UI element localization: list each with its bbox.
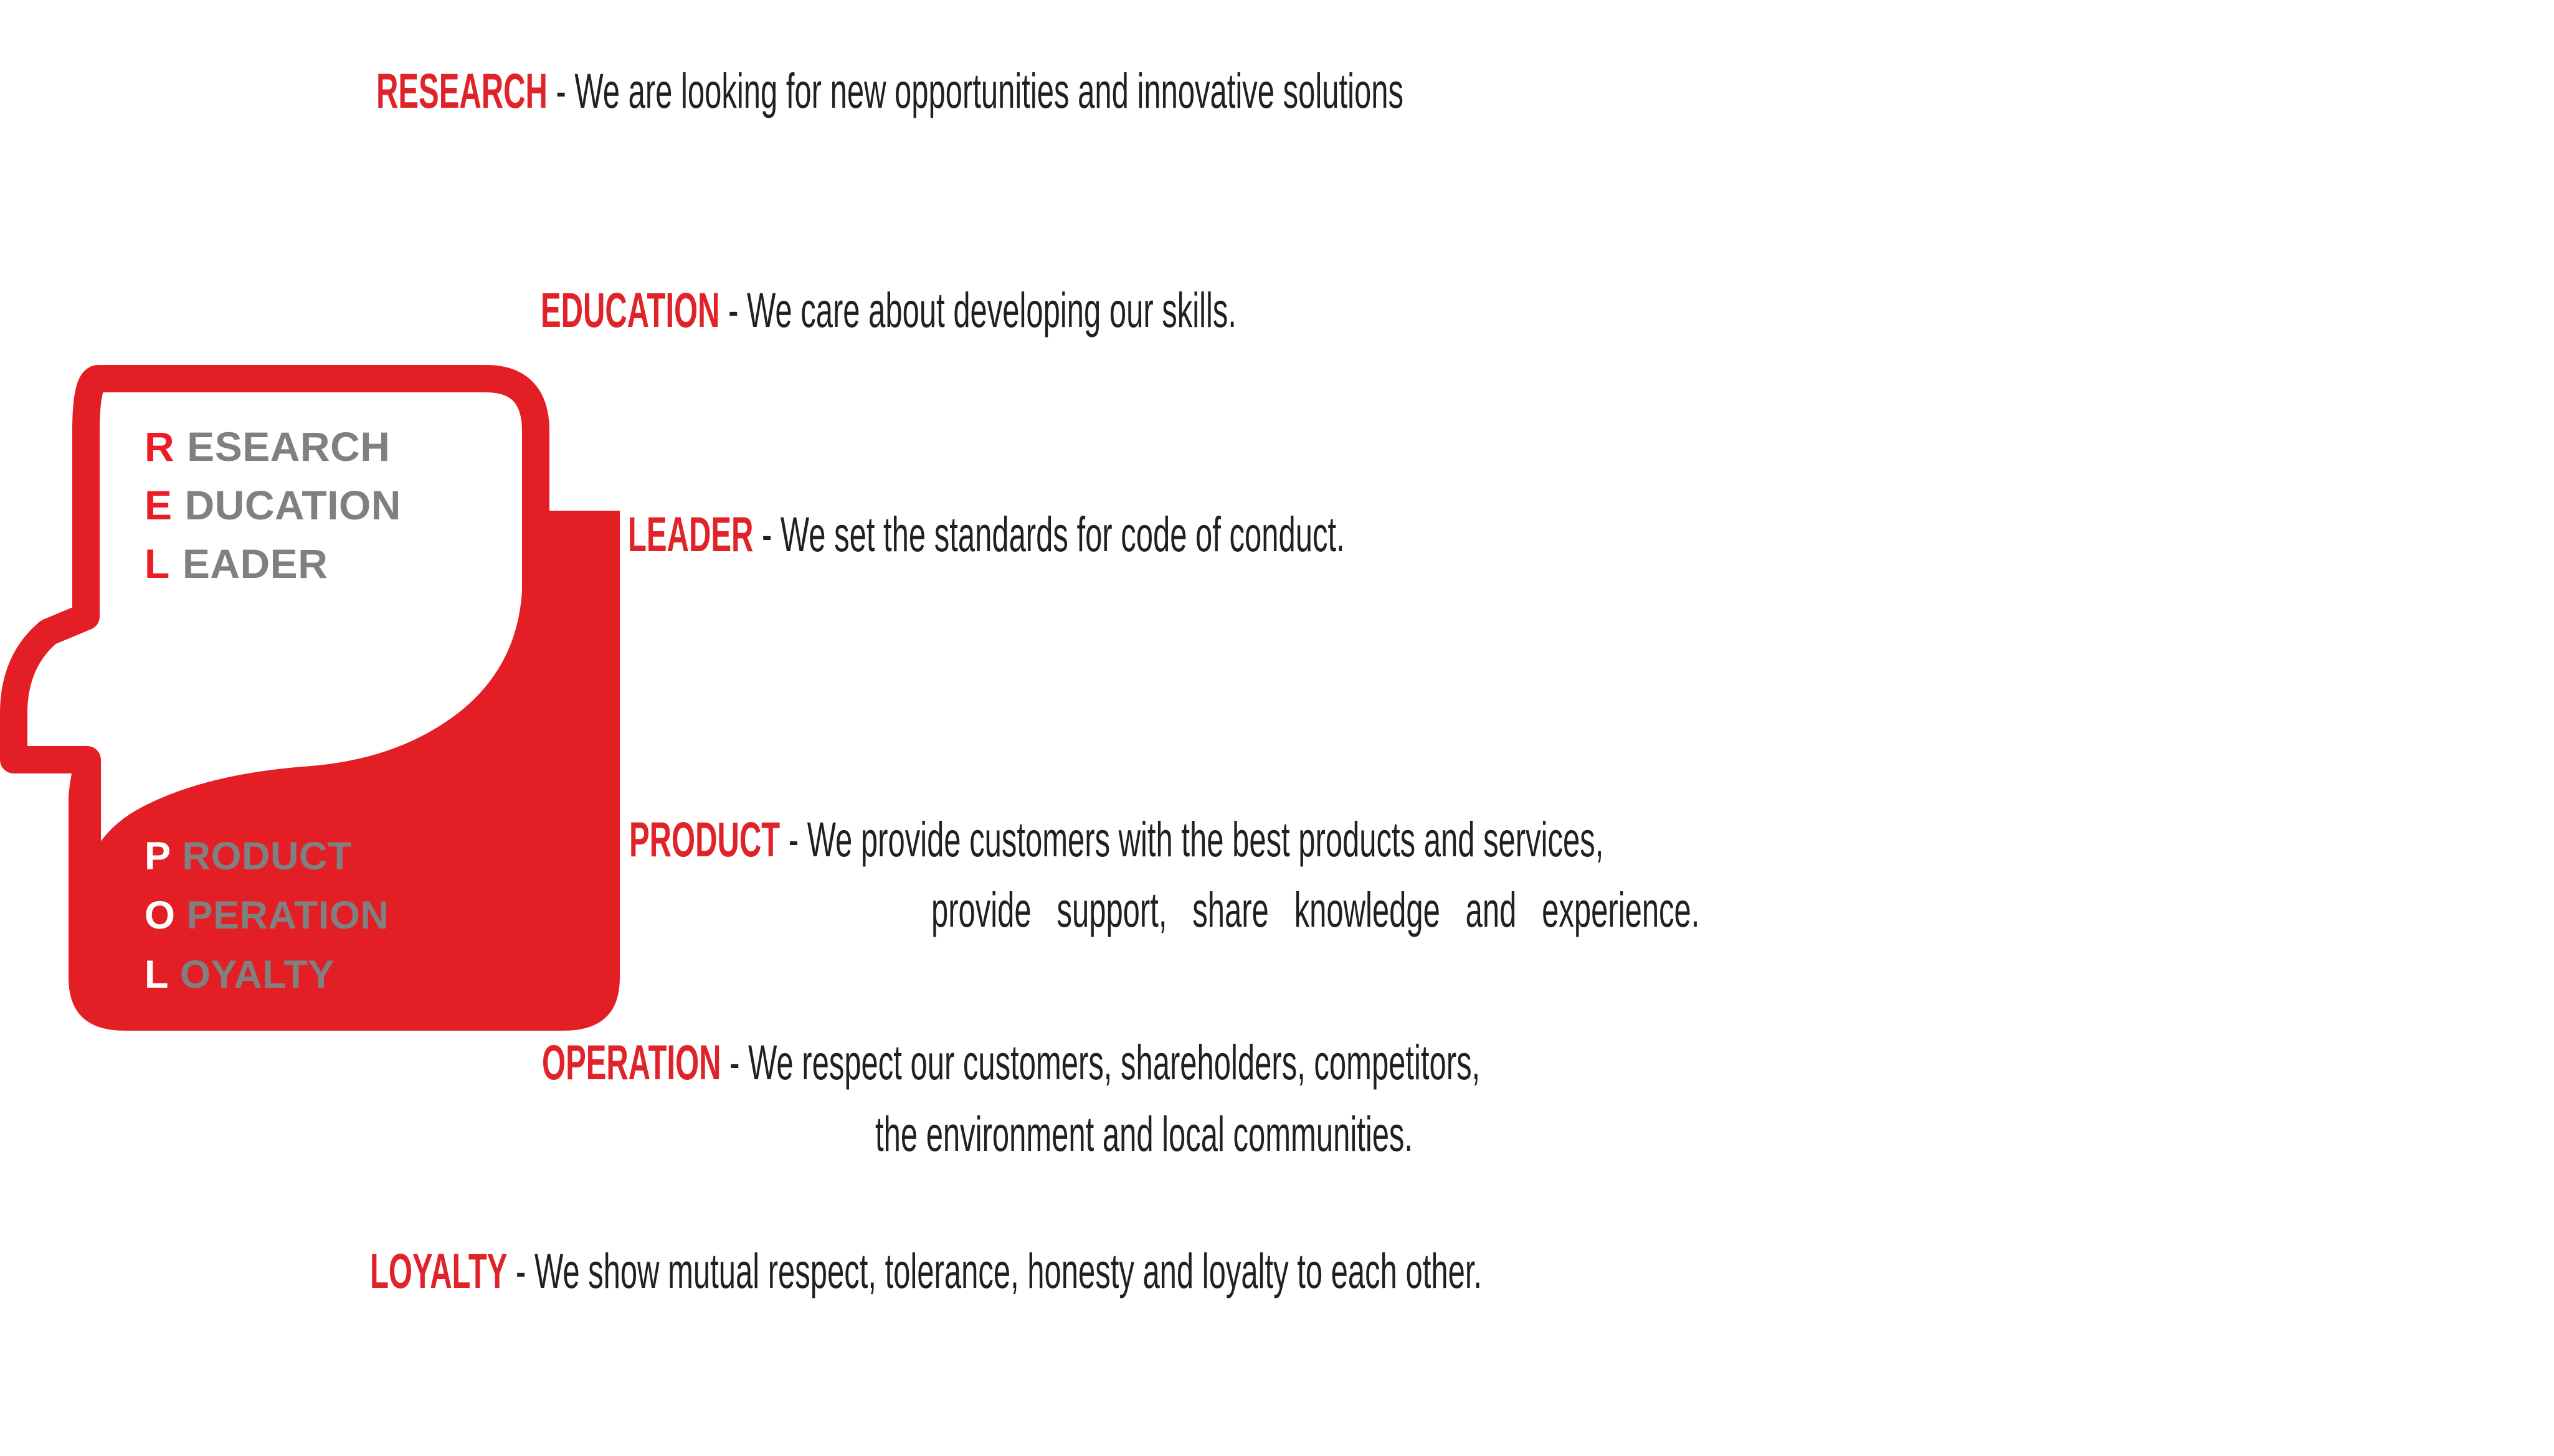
logo-row-loyalty: LOYALTY — [145, 945, 389, 1005]
value-separator-loyalty: - — [507, 1243, 534, 1298]
value-statement-operation: OPERATION - We respect our customers, sh… — [542, 1034, 1480, 1091]
value-keyword-loyalty: LOYALTY — [370, 1243, 507, 1298]
logo-initial-r: R — [145, 423, 174, 470]
company-logo: RESEARCH EDUCATION LEADER PRODUCT OPERAT… — [0, 324, 635, 1102]
value-separator-education: - — [720, 282, 748, 338]
value-keyword-operation: OPERATION — [542, 1034, 721, 1090]
value-statement-product: PRODUCT - We provide customers with the … — [629, 811, 1603, 868]
logo-word-loyalty: OYALTY — [180, 953, 335, 996]
value-text-leader: We set the standards for code of conduct… — [781, 506, 1345, 562]
value-separator-operation: - — [721, 1034, 749, 1090]
value-statement-loyalty: LOYALTY - We show mutual respect, tolera… — [370, 1242, 1482, 1300]
logo-word-research: ESEARCH — [187, 423, 390, 470]
logo-word-leader: EADER — [183, 541, 328, 587]
value-statement-leader: LEADER - We set the standards for code o… — [628, 506, 1345, 563]
value-text-operation-line2: the environment and local communities. — [875, 1105, 1413, 1163]
logo-initial-o: O — [145, 894, 176, 937]
logo-row-operation: OPERATION — [145, 886, 389, 945]
logo-word-operation: PERATION — [187, 894, 389, 937]
value-separator-leader: - — [753, 506, 781, 562]
value-text-operation: We respect our customers, shareholders, … — [748, 1034, 1480, 1090]
infographic-canvas: RESEARCH EDUCATION LEADER PRODUCT OPERAT… — [0, 0, 2554, 1456]
logo-initial-p: P — [145, 834, 171, 878]
logo-row-education: EDUCATION — [145, 476, 401, 534]
value-text-product-line2: provide support, share knowledge and exp… — [931, 881, 1699, 938]
value-keyword-education: EDUCATION — [541, 282, 720, 338]
logo-initial-l: L — [145, 541, 170, 587]
value-statement-research: RESEARCH - We are looking for new opport… — [376, 62, 1403, 120]
logo-row-product: PRODUCT — [145, 827, 389, 886]
logo-pol-text: PRODUCT OPERATION LOYALTY — [145, 827, 389, 1005]
value-keyword-research: RESEARCH — [376, 63, 548, 118]
logo-initial-e: E — [145, 482, 173, 528]
value-statement-education: EDUCATION - We care about developing our… — [541, 281, 1237, 339]
value-keyword-leader: LEADER — [628, 506, 753, 562]
value-text-research: We are looking for new opportunities and… — [574, 63, 1403, 118]
value-text-loyalty: We show mutual respect, tolerance, hones… — [534, 1243, 1482, 1298]
logo-row-research: RESEARCH — [145, 417, 401, 476]
logo-word-education: DUCATION — [185, 482, 401, 528]
value-keyword-product: PRODUCT — [629, 811, 780, 867]
logo-initial-l2: L — [145, 953, 169, 996]
value-text-product: We provide customers with the best produ… — [807, 811, 1604, 867]
logo-rel-text: RESEARCH EDUCATION LEADER — [145, 417, 401, 593]
logo-row-leader: LEADER — [145, 534, 401, 593]
value-separator-research: - — [548, 63, 575, 118]
value-text-education: We care about developing our skills. — [747, 282, 1237, 338]
value-separator-product: - — [780, 811, 807, 867]
logo-word-product: RODUCT — [183, 834, 352, 878]
